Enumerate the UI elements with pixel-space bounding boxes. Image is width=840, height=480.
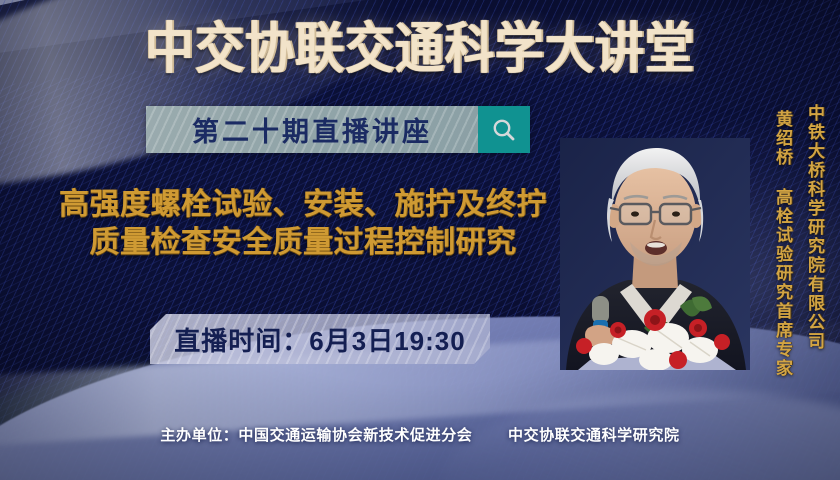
episode-label: 第二十期直播讲座 bbox=[192, 110, 432, 149]
live-time-label: 直播时间：6月3日19:30 bbox=[174, 321, 465, 358]
lecture-topic-line-2: 质量检查安全质量过程控制研究 bbox=[10, 224, 596, 262]
lecture-topic: 高强度螺栓试验、安装、施拧及终拧 质量检查安全质量过程控制研究 bbox=[10, 186, 596, 262]
search-button[interactable] bbox=[478, 106, 530, 153]
live-time-badge: 直播时间：6月3日19:30 bbox=[150, 314, 490, 364]
search-icon bbox=[490, 116, 518, 144]
footer-institute-label: 中交协联交通科学研究院 bbox=[508, 427, 680, 444]
footer-organizers: 主办单位：中国交通运输协会新技术促进分会 中交协联交通科学研究院 bbox=[0, 424, 840, 445]
footer-host-label: 主办单位：中国交通运输协会新技术促进分会 bbox=[160, 427, 472, 444]
lecture-topic-line-1: 高强度螺栓试验、安装、施拧及终拧 bbox=[10, 186, 596, 224]
episode-banner-fill: 第二十期直播讲座 bbox=[146, 106, 478, 153]
speaker-organization: 中铁大桥科学研究院有限公司 bbox=[805, 104, 824, 351]
live-lecture-poster: 中交协联交通科学大讲堂 第二十期直播讲座 高强度螺栓试验、安装、施拧及终拧 质量… bbox=[0, 0, 840, 480]
episode-banner: 第二十期直播讲座 bbox=[146, 106, 530, 153]
page-title: 中交协联交通科学大讲堂 bbox=[0, 18, 840, 81]
speaker-name-title: 黄绍桥 高栓试验研究首席专家 bbox=[773, 110, 792, 378]
